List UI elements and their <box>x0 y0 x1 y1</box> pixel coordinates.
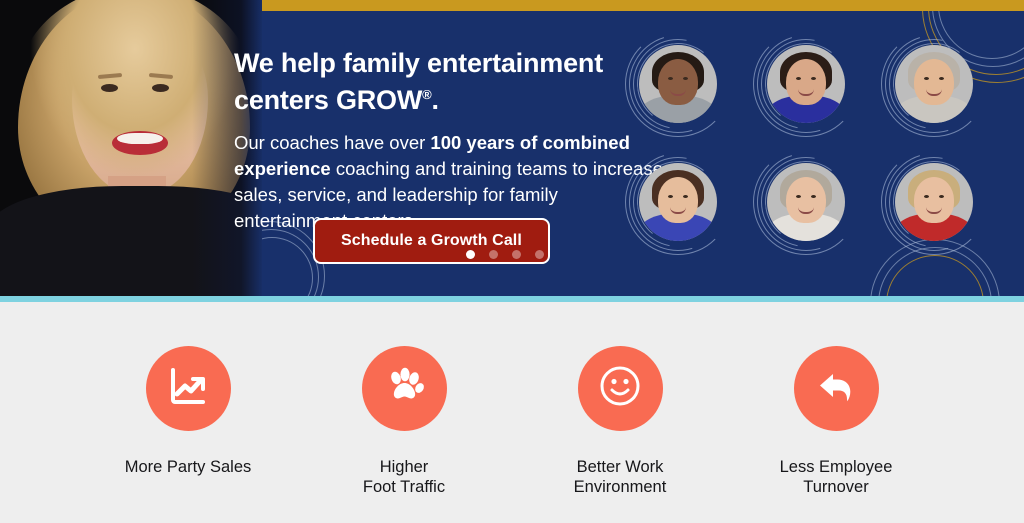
carousel-dot-2[interactable] <box>489 250 498 259</box>
paw-print-icon <box>382 364 426 413</box>
feature-item-3[interactable]: Better WorkEnvironment <box>512 346 728 497</box>
avatar-photo <box>767 163 845 241</box>
return-arrow-icon <box>813 363 859 414</box>
avatar-photo <box>767 45 845 123</box>
feature-icon-badge <box>578 346 663 431</box>
feature-item-2[interactable]: HigherFoot Traffic <box>296 346 512 497</box>
section-divider <box>0 296 1024 302</box>
feature-label: HigherFoot Traffic <box>296 457 512 497</box>
coach-avatar-1 <box>639 45 717 123</box>
hero-section: We help family entertainment centers GRO… <box>0 0 1024 302</box>
hero-title-line2: centers GROW <box>234 85 422 115</box>
feature-item-4[interactable]: Less EmployeeTurnover <box>728 346 944 497</box>
hero-copy: We help family entertainment centers GRO… <box>234 47 664 234</box>
smiley-face-icon <box>597 363 643 414</box>
avatar-photo <box>895 45 973 123</box>
feature-icon-badge <box>146 346 231 431</box>
carousel-dot-1[interactable] <box>466 250 475 259</box>
hero-portrait-image <box>0 0 262 302</box>
coach-avatar-3 <box>895 45 973 123</box>
growth-chart-icon <box>165 363 211 414</box>
hero-title-line1: We help family entertainment <box>234 48 603 78</box>
coach-avatar-2 <box>767 45 845 123</box>
features-section: More Party SalesHigherFoot TrafficBetter… <box>0 302 1024 523</box>
coach-avatar-5 <box>767 163 845 241</box>
coach-avatar-grid <box>639 45 1024 285</box>
feature-icon-badge <box>794 346 879 431</box>
avatar-photo <box>639 45 717 123</box>
hero-title: We help family entertainment centers GRO… <box>234 47 664 116</box>
avatar-photo <box>639 163 717 241</box>
carousel-dots[interactable] <box>466 250 544 259</box>
carousel-dot-4[interactable] <box>535 250 544 259</box>
feature-label: Better WorkEnvironment <box>512 457 728 497</box>
coach-avatar-4 <box>639 163 717 241</box>
hero-title-period: . <box>432 85 439 115</box>
subtitle-prefix: Our coaches have over <box>234 132 430 153</box>
feature-label: Less EmployeeTurnover <box>728 457 944 497</box>
feature-item-1[interactable]: More Party Sales <box>80 346 296 477</box>
feature-icon-badge <box>362 346 447 431</box>
carousel-dot-3[interactable] <box>512 250 521 259</box>
landing-page: We help family entertainment centers GRO… <box>0 0 1024 523</box>
feature-label: More Party Sales <box>80 457 296 477</box>
registered-mark: ® <box>422 87 431 102</box>
avatar-photo <box>895 163 973 241</box>
coach-avatar-6 <box>895 163 973 241</box>
